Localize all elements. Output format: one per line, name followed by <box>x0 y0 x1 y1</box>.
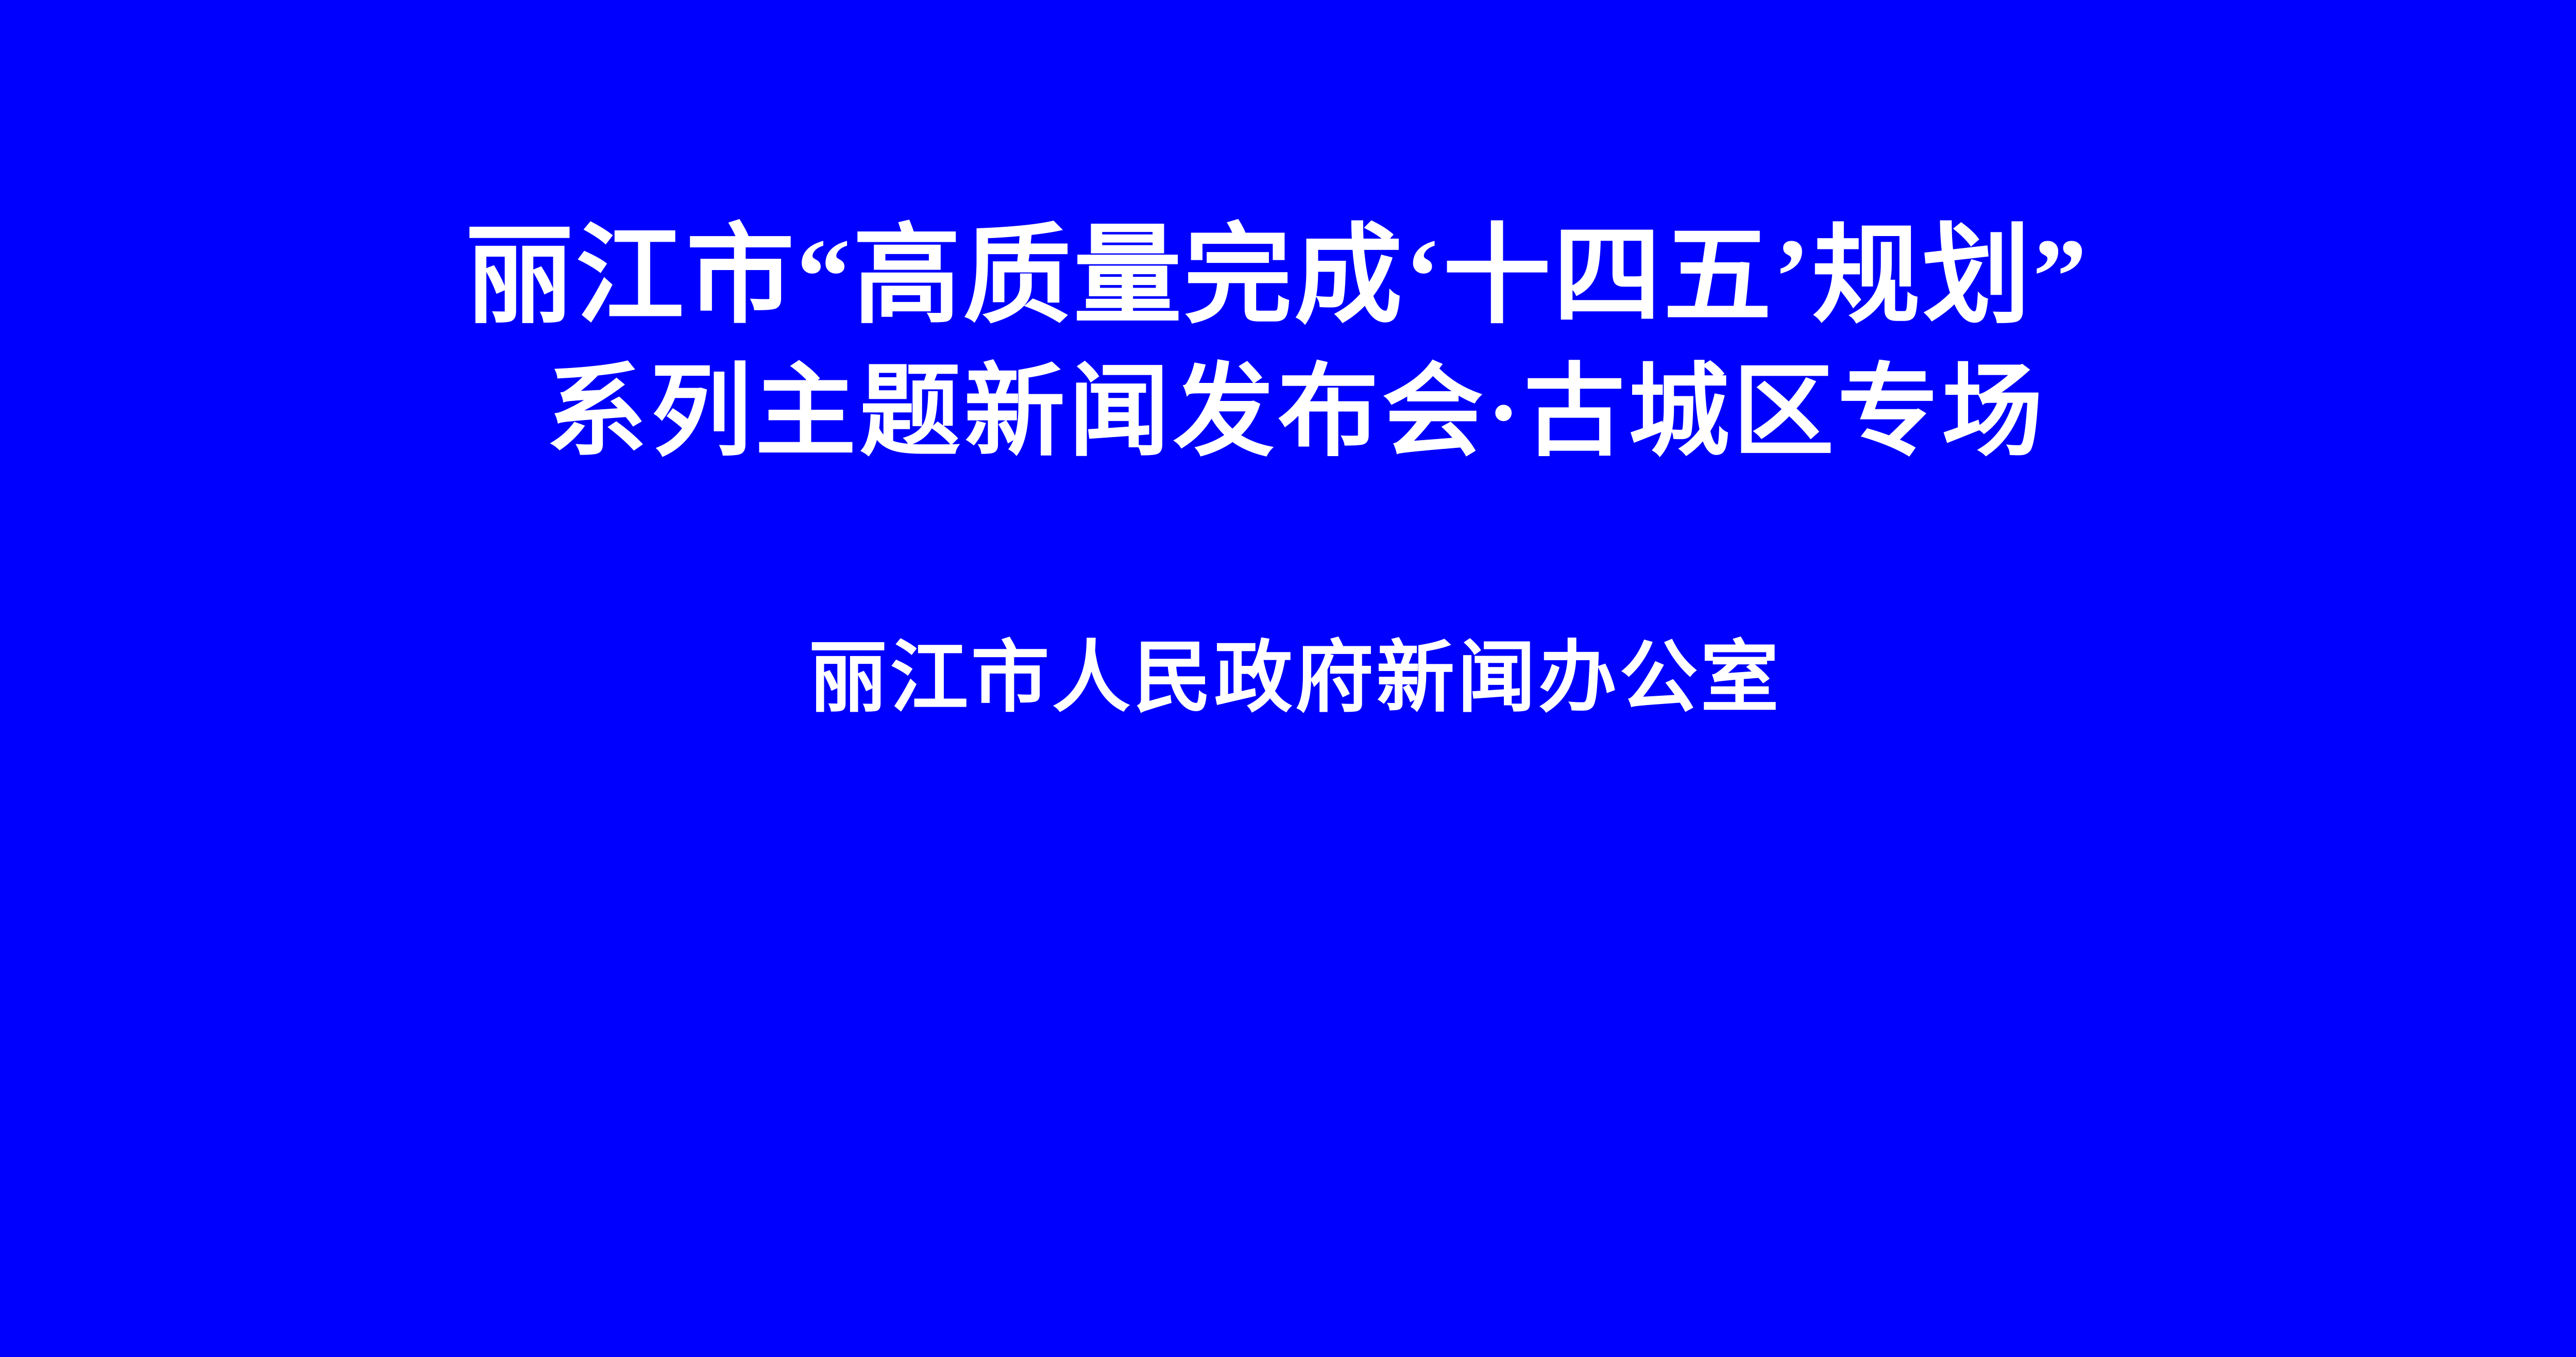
event-title: 丽江市“高质量完成‘十四五’规划” 系列主题新闻发布会·古城区专场 <box>0 209 2576 480</box>
event-title-line-1: 丽江市“高质量完成‘十四五’规划” <box>0 209 2576 345</box>
event-title-line-2: 系列主题新闻发布会·古城区专场 <box>16 345 2576 480</box>
issuing-office-subtitle: 丽江市人民政府新闻办公室 <box>7 637 2576 719</box>
presentation-backdrop: 丽江市“高质量完成‘十四五’规划” 系列主题新闻发布会·古城区专场 丽江市人民政… <box>0 0 2576 1357</box>
blank-backdrop-area <box>0 747 2576 1357</box>
